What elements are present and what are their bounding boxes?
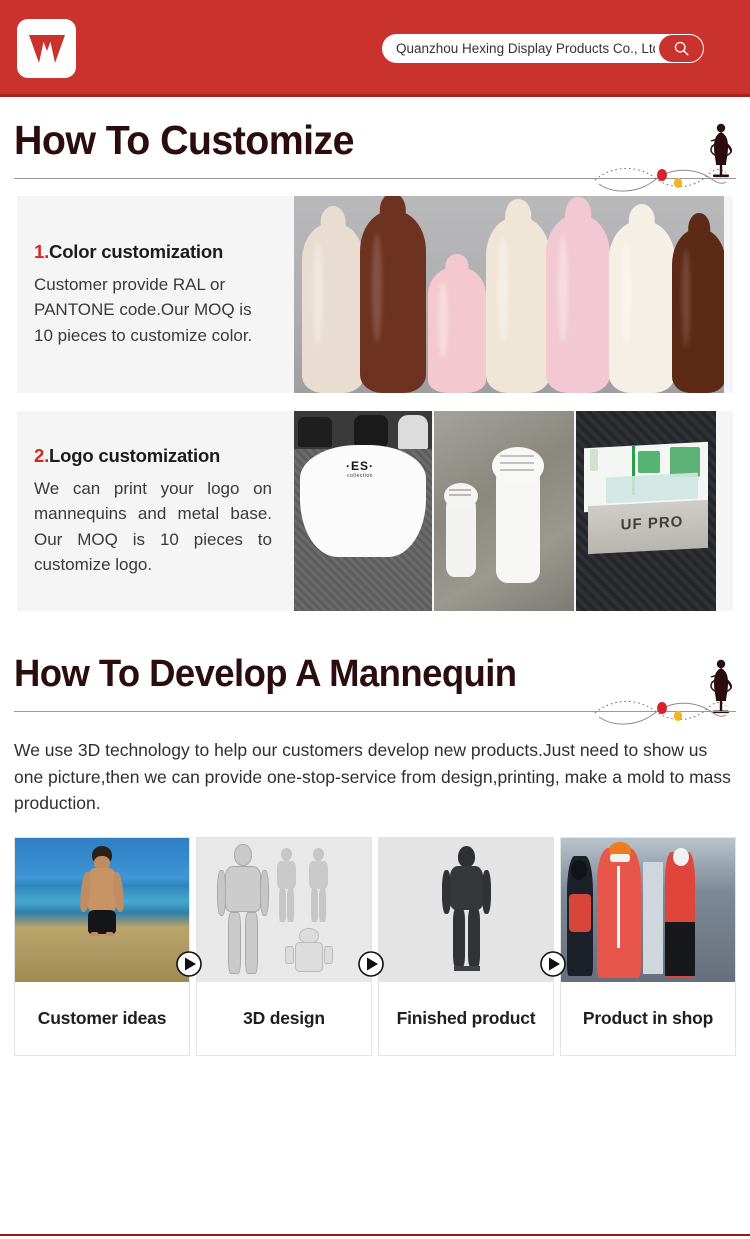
divider-ornament-icon [593,693,728,734]
customize-card-number: 1. [34,241,49,262]
step-label: Customer ideas [15,982,189,1055]
logo-printed-base-photo [434,411,574,611]
site-header [0,0,750,97]
divider-ornament-icon [593,160,728,201]
customize-card-body: Customer provide RAL or PANTONE code.Our… [34,272,272,349]
section-divider [14,162,736,196]
customize-card-body: We can print your logo on mannequins and… [34,476,272,578]
company-logo[interactable] [17,19,76,78]
section-how-to-customize-header: How To Customize [0,119,750,162]
step-card-product-in-shop[interactable]: Product in shop [560,837,736,1056]
customize-card-text: 1.Color customization Customer provide R… [17,223,294,367]
customize-card-media: ·ES· collection [294,411,733,611]
customize-card-number: 2. [34,445,49,466]
page-title-secondary: How To Develop A Mannequin [14,655,707,695]
customize-card-color: 1.Color customization Customer provide R… [17,196,733,393]
section-how-to-develop-header: How To Develop A Mannequin [0,655,750,695]
page-title: How To Customize [14,119,707,162]
search-icon [673,40,690,57]
section-divider [14,695,736,729]
search-button[interactable] [659,35,703,62]
step-label: Finished product [379,982,553,1055]
finished-product-photo [379,838,553,982]
page-root: How To Customize 1.Color cust [0,0,750,1239]
step-card-3d-design[interactable]: 3D design [196,837,372,1056]
logo-mark-icon [27,31,67,67]
develop-paragraph: We use 3D technology to help our custome… [14,737,736,817]
color-mannequins-lineup-photo [294,196,724,393]
3d-design-render [197,838,371,982]
customize-card-text: 2.Logo customization We can print your l… [17,427,294,596]
customize-card-media [294,196,733,393]
logo-printed-metal-base-photo: UF PRO [576,411,716,611]
arrow-right-icon [357,950,385,978]
step-card-finished-product[interactable]: Finished product [378,837,554,1056]
customize-card-title-text: Color customization [49,241,223,262]
develop-steps-row: Customer ideas [14,837,736,1056]
customize-card-title: 2.Logo customization [34,445,272,467]
step-label: Product in shop [561,982,735,1055]
arrow-right-icon [539,950,567,978]
footer-accent-line [0,1234,750,1236]
customer-idea-photo [15,838,189,982]
customize-card-title-text: Logo customization [49,445,220,466]
step-card-customer-ideas[interactable]: Customer ideas [14,837,190,1056]
logo-printed-torso-photo: ·ES· collection [294,411,432,611]
customize-card-logo: 2.Logo customization We can print your l… [17,411,733,611]
search-bar[interactable] [382,34,704,63]
arrow-right-icon [175,950,203,978]
customize-card-title: 1.Color customization [34,241,272,263]
product-in-shop-photo [561,838,735,982]
step-label: 3D design [197,982,371,1055]
search-input[interactable] [382,34,659,63]
